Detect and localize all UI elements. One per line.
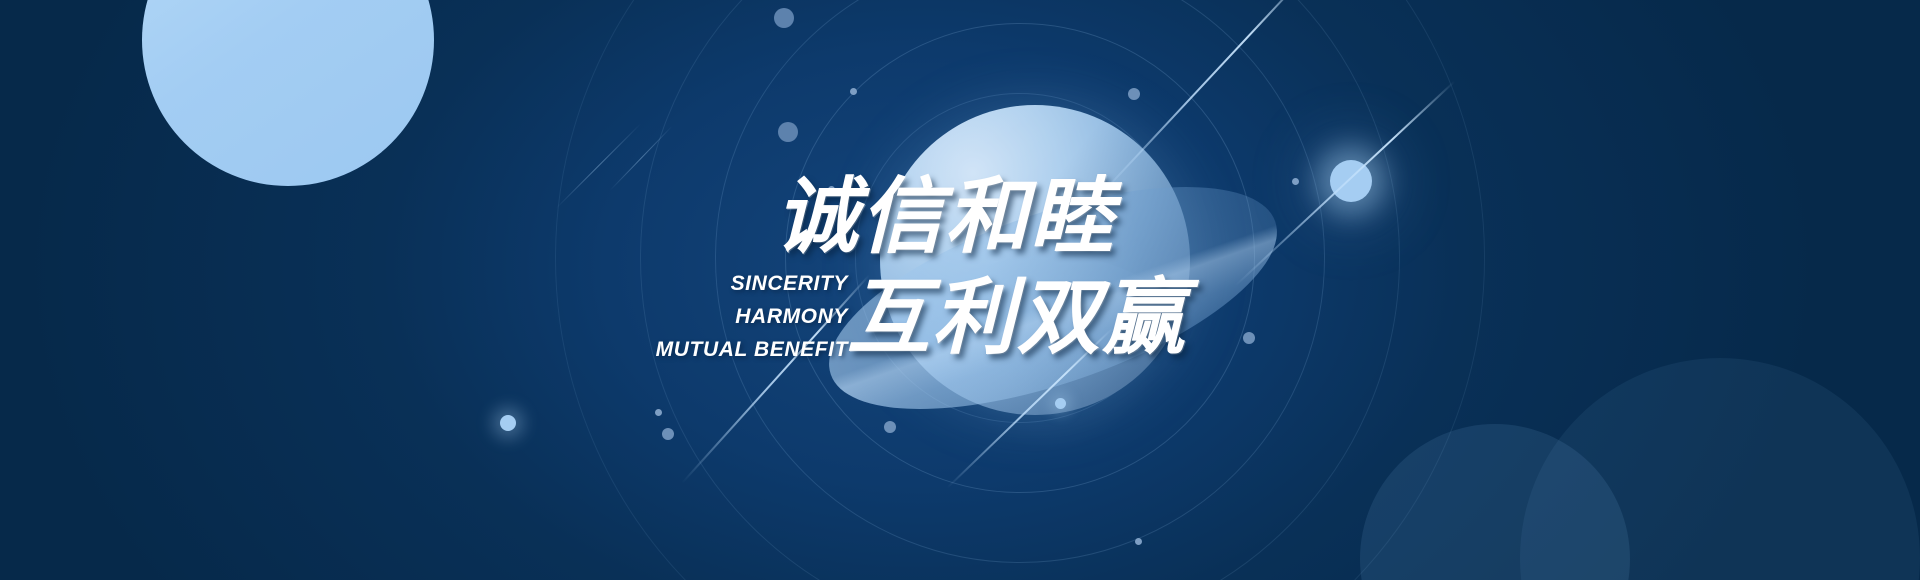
subtitle-block: SINCERITY HARMONY MUTUAL BENEFIT [548, 267, 848, 367]
banner-copy: SINCERITY HARMONY MUTUAL BENEFIT 诚信和睦 互利… [0, 0, 1920, 580]
subtitle-line-1: SINCERITY [548, 267, 848, 300]
headline-line-2: 互利双赢 [847, 271, 1187, 366]
headline-line-1: 诚信和睦 [775, 170, 1115, 265]
hero-banner: SINCERITY HARMONY MUTUAL BENEFIT 诚信和睦 互利… [0, 0, 1920, 580]
subtitle-line-2: HARMONY [548, 300, 848, 333]
subtitle-line-3: MUTUAL BENEFIT [548, 333, 848, 366]
